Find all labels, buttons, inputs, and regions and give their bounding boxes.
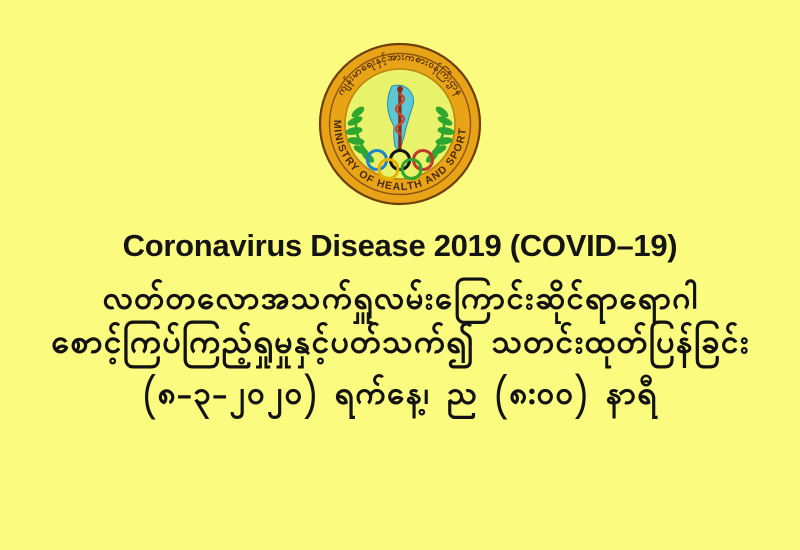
announcement-date-line-burmese: (၈-၃-၂၀၂၀) ရက်နေ့၊ ည (၈:၀၀) နာရီ — [0, 376, 800, 419]
announcement-line-2-burmese: စောင့်ကြပ်ကြည့်ရှုမှုနှင့်ပတ်သက်၍ သတင်းထ… — [0, 323, 800, 367]
announcement-text-block: Coronavirus Disease 2019 (COVID–19) လတ်တ… — [0, 228, 800, 419]
page-title-english: Coronavirus Disease 2019 (COVID–19) — [0, 228, 800, 265]
announcement-line-1-burmese: လတ်တလောအသက်ရှူလမ်းကြောင်းဆိုင်ရာရောဂါ — [0, 281, 800, 324]
ministry-seal-logo: ကျန်းမာရေးနှင့်အားကစားဝန်ကြီးဌာန MINISTR… — [318, 42, 482, 206]
covid-announcement-poster: ကျန်းမာရေးနှင့်အားကစားဝန်ကြီးဌာန MINISTR… — [0, 0, 800, 550]
ministry-seal-svg: ကျန်းမာရေးနှင့်အားကစားဝန်ကြီးဌာန MINISTR… — [318, 42, 482, 206]
